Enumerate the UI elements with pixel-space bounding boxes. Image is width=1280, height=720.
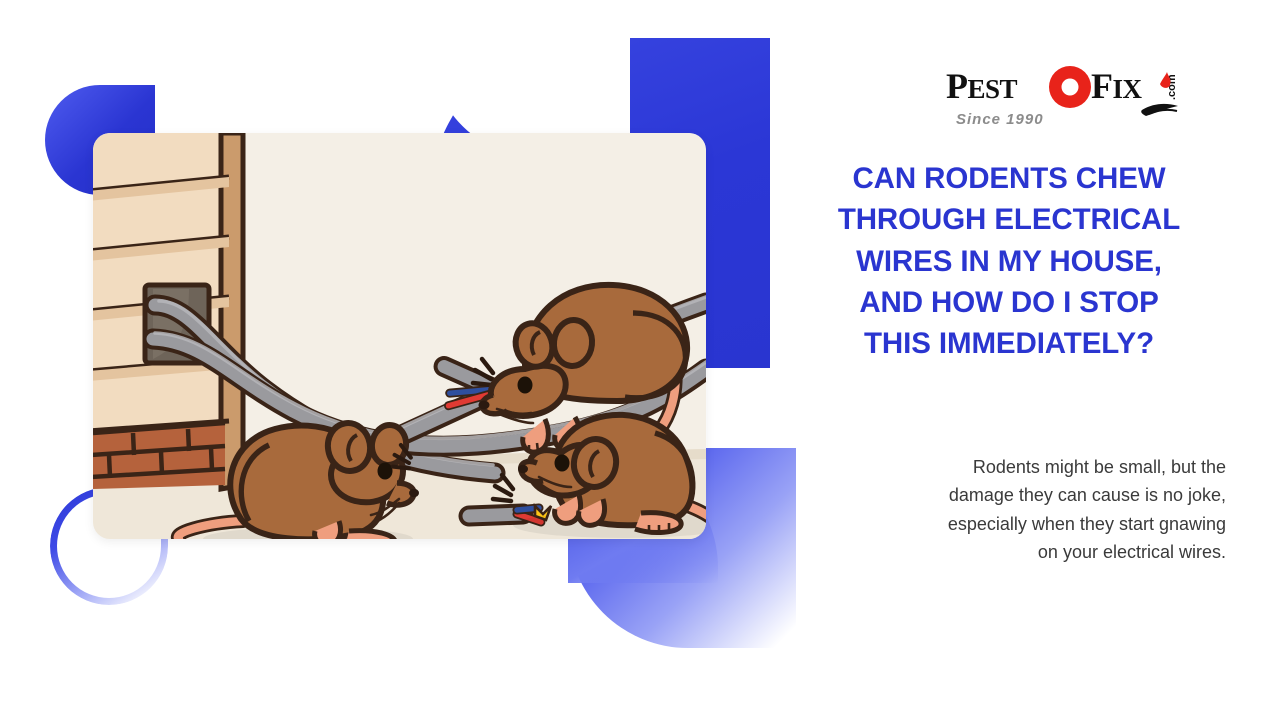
headline-line-3: WIRES IN MY HOUSE, xyxy=(784,241,1234,282)
headline-line-4: AND HOW DO I STOP xyxy=(784,282,1234,323)
body-line-4: on your electrical wires. xyxy=(806,538,1226,566)
body-line-2: damage they can cause is no joke, xyxy=(806,481,1226,509)
logo-tagline: Since 1990 xyxy=(956,111,1044,128)
logo-word-pest: PEST xyxy=(946,66,1018,106)
body-line-1: Rodents might be small, but the xyxy=(806,453,1226,481)
logo-word-fix: FIX xyxy=(1091,66,1143,106)
page-title: CAN RODENTS CHEW THROUGH ELECTRICAL WIRE… xyxy=(784,158,1234,364)
poster-canvas: PEST FIX .com Since 1990 CAN RODENTS CHE… xyxy=(0,0,1280,720)
body-paragraph: Rodents might be small, but the damage t… xyxy=(806,453,1226,567)
body-line-3: especially when they start gnawing xyxy=(806,510,1226,538)
rodents-chewing-wires-illustration xyxy=(93,133,706,539)
headline-line-5: THIS IMMEDIATELY? xyxy=(784,323,1234,364)
content-column: PEST FIX .com Since 1990 CAN RODENTS CHE… xyxy=(770,48,1240,608)
headline-line-2: THROUGH ELECTRICAL xyxy=(784,199,1234,240)
pestofix-logo[interactable]: PEST FIX .com Since 1990 xyxy=(946,62,1206,134)
headline-line-1: CAN RODENTS CHEW xyxy=(784,158,1234,199)
